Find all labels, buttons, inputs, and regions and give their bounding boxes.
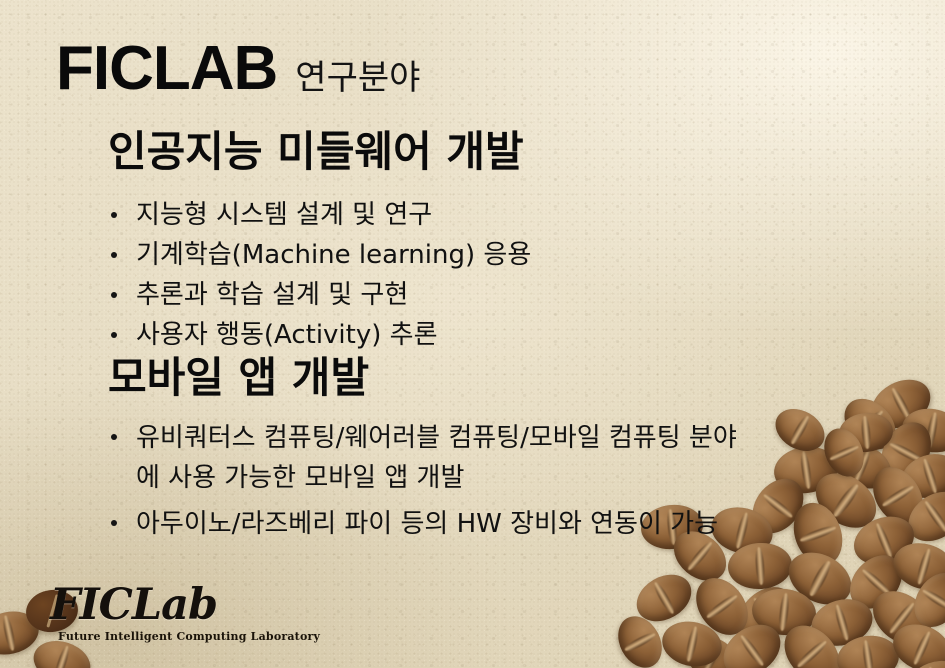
list-item-label: 사용자 행동(Activity) 추론 [136, 320, 438, 350]
slide-title-row: FICLAB 연구분야 [56, 38, 420, 100]
logo-tagline: Future Intelligent Computing Laboratory [58, 630, 320, 643]
list-item: 사용자 행동(Activity) 추론 [104, 316, 531, 354]
section-heading-ai: 인공지능 미들웨어 개발 [108, 131, 524, 173]
list-item-label: 유비쿼터스 컴퓨팅/웨어러블 컴퓨팅/모바일 컴퓨팅 분야에 사용 가능한 모바… [136, 423, 737, 493]
bullet-dot-icon [111, 252, 117, 258]
slide-content: FICLAB 연구분야 인공지능 미들웨어 개발 지능형 시스템 설계 및 연구… [0, 0, 945, 668]
list-item: 아두이노/라즈베리 파이 등의 HW 장비와 연동이 가능 [104, 504, 744, 544]
bullet-dot-icon [111, 292, 117, 298]
bullet-dot-icon [111, 212, 117, 218]
bullet-dot-icon [111, 332, 117, 338]
list-item: 추론과 학습 설계 및 구현 [104, 276, 531, 314]
list-item: 기계학습(Machine learning) 응용 [104, 236, 531, 274]
list-item: 유비쿼터스 컴퓨팅/웨어러블 컴퓨팅/모바일 컴퓨팅 분야에 사용 가능한 모바… [104, 418, 744, 498]
slide-canvas: FICLAB 연구분야 인공지능 미들웨어 개발 지능형 시스템 설계 및 연구… [0, 0, 945, 668]
list-item-label: 추론과 학습 설계 및 구현 [136, 280, 408, 310]
logo-wordmark: FICLab [50, 582, 217, 629]
list-item-label: 지능형 시스템 설계 및 연구 [136, 200, 432, 230]
bullet-list-ai: 지능형 시스템 설계 및 연구 기계학습(Machine learning) 응… [104, 196, 531, 356]
list-item-label: 기계학습(Machine learning) 응용 [136, 240, 531, 270]
list-item: 지능형 시스템 설계 및 연구 [104, 196, 531, 234]
ficlab-logo: FICLab Future Intelligent Computing Labo… [22, 586, 237, 648]
section-heading-mobile: 모바일 앱 개발 [108, 357, 369, 399]
bullet-dot-icon [111, 520, 117, 526]
brand-title: FICLAB [56, 38, 277, 100]
bullet-dot-icon [111, 434, 117, 440]
bullet-list-mobile: 유비쿼터스 컴퓨팅/웨어러블 컴퓨팅/모바일 컴퓨팅 분야에 사용 가능한 모바… [104, 418, 744, 550]
brand-subtitle: 연구분야 [295, 61, 420, 95]
list-item-label: 아두이노/라즈베리 파이 등의 HW 장비와 연동이 가능 [136, 509, 718, 539]
